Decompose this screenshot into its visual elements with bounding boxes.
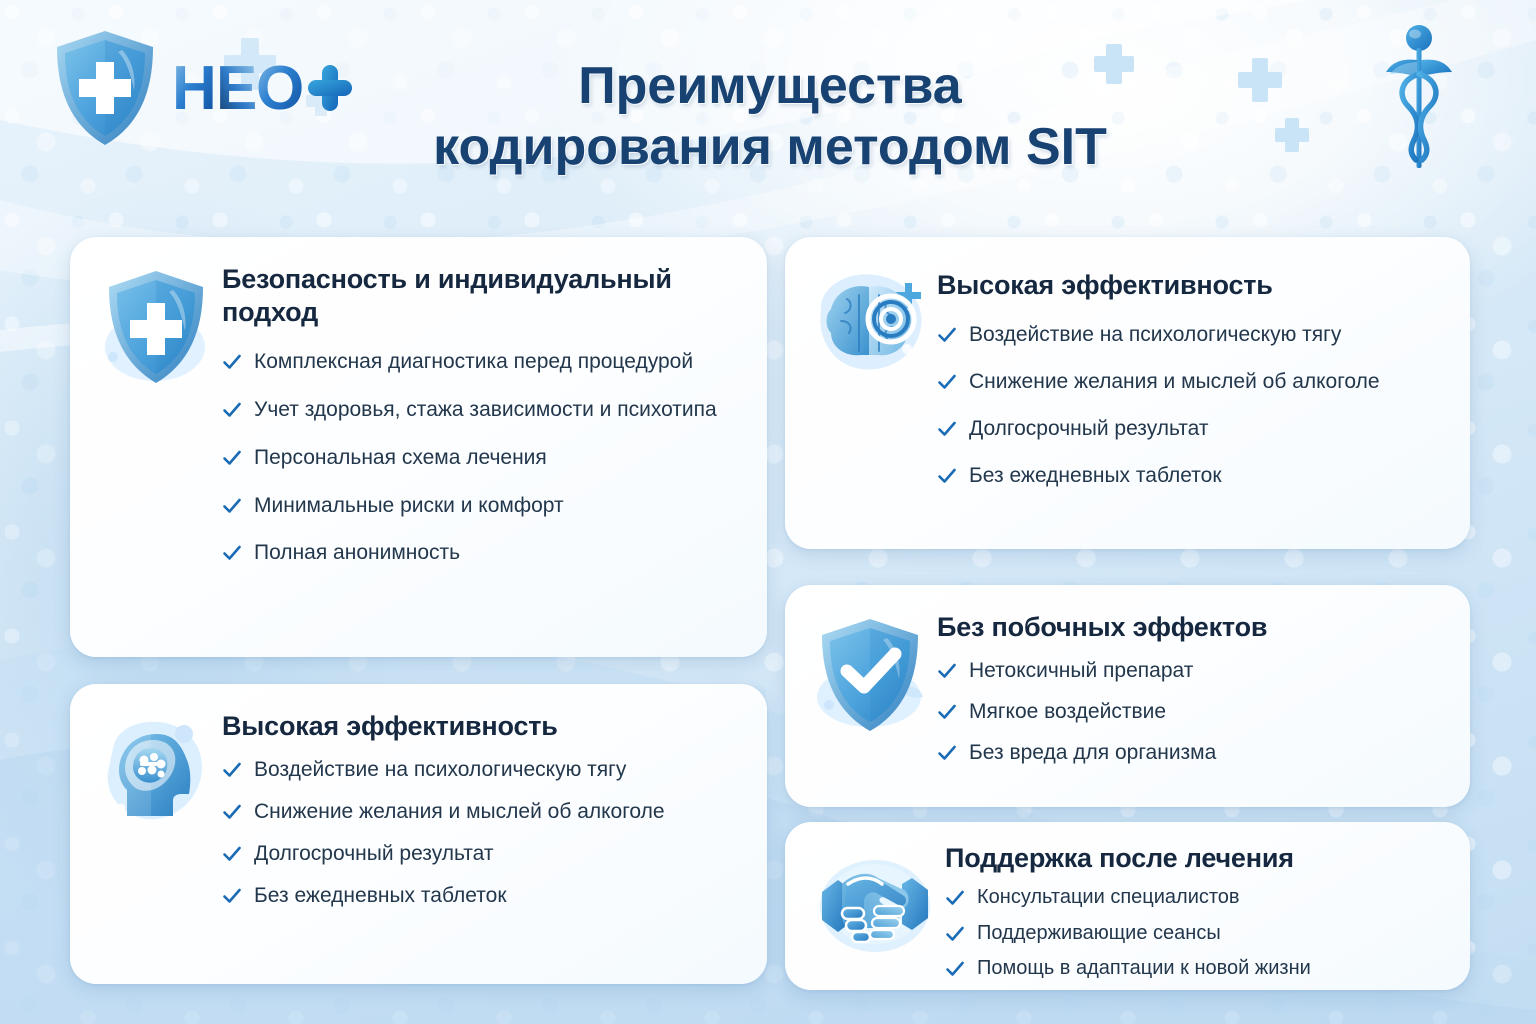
handshake-icon (812, 844, 938, 966)
header: Н Е О Преимущества кодирования методом S… (0, 0, 1536, 210)
bullet-item: Без ежедневных таблеток (222, 883, 741, 910)
bullet-list: Нетоксичный препарат Мягкое воздействие … (937, 658, 1444, 767)
benefit-card-safety: Безопасность и индивидуальный подход Ком… (70, 237, 767, 657)
check-icon (937, 661, 957, 681)
head-brain-icon (95, 712, 217, 834)
bullet-item: Минимальные риски и комфорт (222, 493, 741, 520)
shield-cross-icon (97, 265, 215, 389)
bullet-text: Полная анонимность (254, 540, 460, 567)
card-body: Высокая эффективность Воздействие на пси… (937, 259, 1444, 529)
bullet-item: Нетоксичный препарат (937, 658, 1444, 685)
card-body: Без побочных эффектов Нетоксичный препар… (937, 607, 1444, 787)
check-icon (945, 924, 965, 944)
bullet-text: Воздействие на психологическую тягу (254, 757, 626, 784)
card-icon-slot (90, 706, 222, 964)
check-icon (222, 760, 242, 780)
svg-text:Н: Н (172, 54, 214, 123)
bullet-item: Воздействие на психологическую тягу (222, 757, 741, 784)
bullet-text: Комплексная диагностика перед процедурой (254, 349, 693, 376)
bullet-item: Снижение желания и мыслей об алкоголе (937, 369, 1444, 396)
bullet-item: Персональная схема лечения (222, 445, 741, 472)
check-icon (222, 543, 242, 563)
check-icon (937, 419, 957, 439)
bullet-text: Учет здоровья, стажа зависимости и психо… (254, 397, 717, 424)
bullet-item: Снижение желания и мыслей об алкоголе (222, 799, 741, 826)
bullet-text: Минимальные риски и комфорт (254, 493, 564, 520)
title-line-1: Преимущества (330, 56, 1210, 117)
benefit-card-effectiveness-left: Высокая эффективность Воздействие на пси… (70, 684, 767, 984)
card-icon-slot (805, 259, 937, 529)
bullet-item: Комплексная диагностика перед процедурой (222, 349, 741, 376)
card-body: Безопасность и индивидуальный подход Ком… (222, 259, 741, 637)
bullet-text: Мягкое воздействие (969, 699, 1166, 726)
svg-text:Е: Е (216, 54, 255, 123)
shield-cross-icon (52, 28, 158, 148)
check-icon (945, 888, 965, 908)
check-icon (937, 372, 957, 392)
check-icon (945, 959, 965, 979)
bullet-text: Долгосрочный результат (254, 841, 494, 868)
benefit-card-support: Поддержка после лечения Консультации спе… (785, 822, 1470, 990)
check-icon (222, 400, 242, 420)
bullet-list: Консультации специалистов Поддерживающие… (945, 885, 1444, 982)
check-icon (222, 886, 242, 906)
bullet-text: Долгосрочный результат (969, 416, 1209, 443)
card-title: Без побочных эффектов (937, 611, 1444, 644)
benefit-card-no-side-effects: Без побочных эффектов Нетоксичный препар… (785, 585, 1470, 807)
bullet-text: Консультации специалистов (977, 885, 1240, 911)
caduceus-icon (1384, 22, 1454, 172)
bullet-text: Помощь в адаптации к новой жизни (977, 956, 1311, 982)
bullet-text: Без ежедневных таблеток (254, 883, 507, 910)
check-icon (937, 702, 957, 722)
bullet-text: Снижение желания и мыслей об алкоголе (969, 369, 1380, 396)
bullet-text: Без ежедневных таблеток (969, 463, 1222, 490)
bullet-item: Долгосрочный результат (937, 416, 1444, 443)
bullet-list: Воздействие на психологическую тягу Сниж… (937, 322, 1444, 490)
bullet-item: Без ежедневных таблеток (937, 463, 1444, 490)
card-body: Поддержка после лечения Консультации спе… (945, 838, 1444, 970)
check-icon (222, 496, 242, 516)
check-icon (222, 352, 242, 372)
card-title: Безопасность и индивидуальный подход (222, 263, 741, 329)
page-title: Преимущества кодирования методом SIT (330, 56, 1210, 179)
bullet-item: Мягкое воздействие (937, 699, 1444, 726)
bullet-list: Воздействие на психологическую тягу Сниж… (222, 757, 741, 910)
card-title: Высокая эффективность (937, 269, 1444, 302)
card-icon-slot (805, 607, 937, 787)
bullet-text: Поддерживающие сеансы (977, 921, 1221, 947)
bullet-list: Комплексная диагностика перед процедурой… (222, 349, 741, 567)
bullet-item: Полная анонимность (222, 540, 741, 567)
card-title: Высокая эффективность (222, 710, 741, 743)
shield-check-icon (811, 613, 931, 739)
brain-target-icon (807, 265, 935, 387)
card-body: Высокая эффективность Воздействие на пси… (222, 706, 741, 964)
check-icon (222, 802, 242, 822)
bullet-item: Долгосрочный результат (222, 841, 741, 868)
bullet-text: Воздействие на психологическую тягу (969, 322, 1341, 349)
bullet-text: Нетоксичный препарат (969, 658, 1193, 685)
bullet-item: Поддерживающие сеансы (945, 921, 1444, 947)
check-icon (937, 325, 957, 345)
check-icon (222, 844, 242, 864)
bullet-text: Персональная схема лечения (254, 445, 547, 472)
bullet-text: Без вреда для организма (969, 740, 1216, 767)
check-icon (937, 743, 957, 763)
check-icon (222, 448, 242, 468)
bullet-text: Снижение желания и мыслей об алкоголе (254, 799, 665, 826)
bullet-item: Без вреда для организма (937, 740, 1444, 767)
bullet-item: Консультации специалистов (945, 885, 1444, 911)
check-icon (937, 466, 957, 486)
card-icon-slot (90, 259, 222, 637)
bullet-item: Воздействие на психологическую тягу (937, 322, 1444, 349)
card-title: Поддержка после лечения (945, 842, 1444, 875)
title-line-2: кодирования методом SIT (330, 117, 1210, 178)
bullet-item: Учет здоровья, стажа зависимости и психо… (222, 397, 741, 424)
benefit-card-effectiveness-right: Высокая эффективность Воздействие на пси… (785, 237, 1470, 549)
card-icon-slot (805, 838, 945, 970)
bullet-item: Помощь в адаптации к новой жизни (945, 956, 1444, 982)
svg-text:О: О (256, 54, 302, 123)
